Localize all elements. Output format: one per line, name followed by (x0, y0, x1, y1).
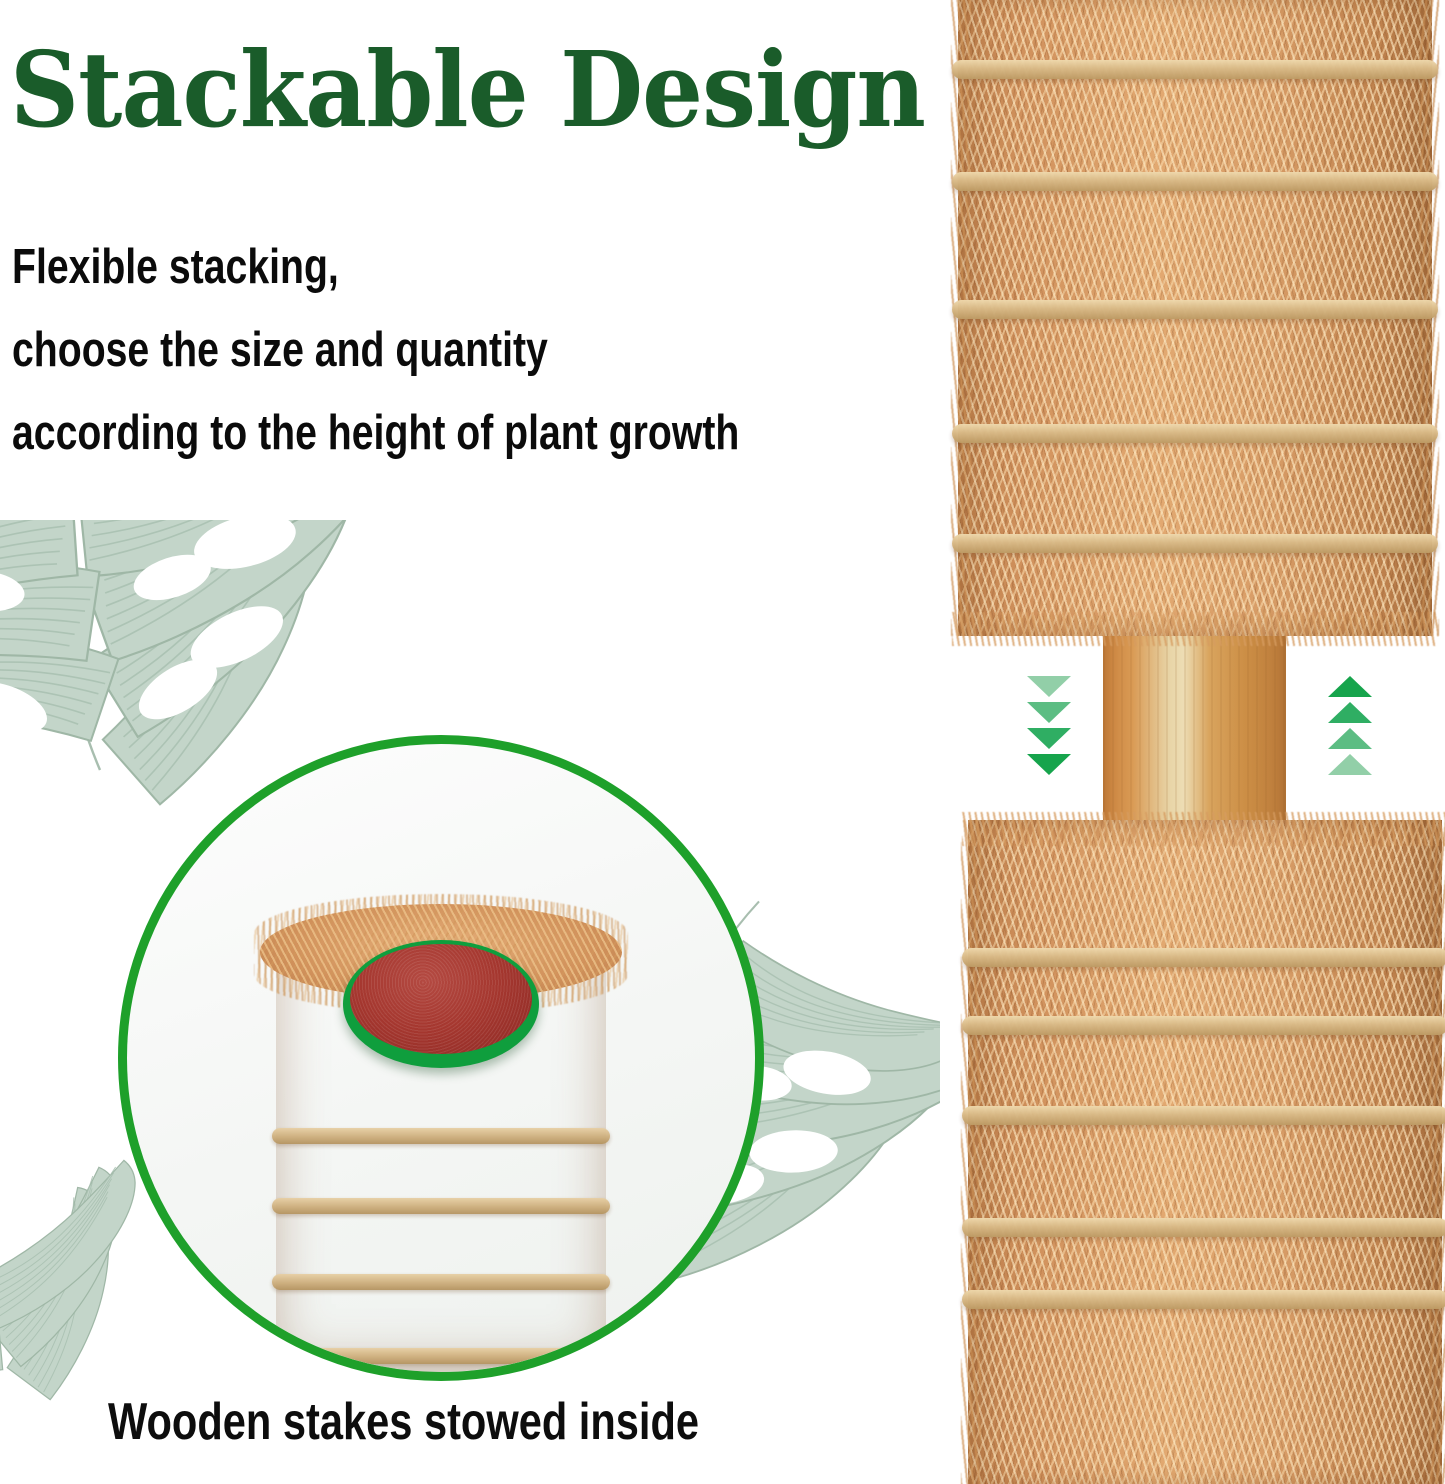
detail-inset-circle (118, 735, 764, 1381)
twine-wrap (272, 1348, 610, 1364)
twine-wrap (952, 534, 1438, 553)
pole-top-edge (962, 812, 1445, 846)
twine-wrap (952, 172, 1438, 191)
chevron-down-icon (1027, 754, 1071, 775)
chevron-down-icon (1027, 728, 1071, 749)
chevron-up-icon (1328, 754, 1372, 775)
description-line-3: according to the height of plant growth (12, 409, 796, 458)
red-end-cap (343, 940, 539, 1068)
wooden-stake-dowel (1103, 616, 1286, 836)
chevron-up-icon (1328, 702, 1372, 723)
chevron-down-icon (1027, 702, 1071, 723)
inset-photo (127, 744, 755, 1372)
pole-bottom-edge (952, 612, 1438, 646)
chevron-up-icon (1328, 676, 1372, 697)
coir-moss-pole-lower (968, 820, 1442, 1484)
page-title: Stackable Design (10, 38, 925, 142)
twine-wrap (272, 1274, 610, 1290)
twine-wrap (962, 948, 1445, 967)
inset-caption: Wooden stakes stowed inside (108, 1396, 699, 1448)
chevron-down-icon (1027, 676, 1071, 697)
insert-direction-up-arrows (1328, 676, 1372, 775)
marketing-infographic: Stackable Design Flexible stacking, choo… (0, 0, 1445, 1484)
description-line-2: choose the size and quantity (12, 326, 796, 375)
description-line-1: Flexible stacking, (12, 243, 796, 292)
chevron-up-icon (1328, 728, 1372, 749)
coir-pole-stub (276, 894, 606, 1372)
twine-wrap (272, 1198, 610, 1214)
twine-wrap (272, 1128, 610, 1144)
twine-wrap (962, 1016, 1445, 1035)
feature-description: Flexible stacking, choose the size and q… (12, 243, 992, 492)
twine-wrap (952, 60, 1438, 79)
twine-wrap (952, 300, 1438, 319)
twine-wrap (952, 424, 1438, 443)
twine-wrap (962, 1218, 1445, 1237)
twine-wrap (962, 1290, 1445, 1309)
twine-wrap (962, 1106, 1445, 1125)
coir-moss-pole-upper (958, 0, 1432, 636)
insert-direction-down-arrows (1027, 676, 1071, 775)
